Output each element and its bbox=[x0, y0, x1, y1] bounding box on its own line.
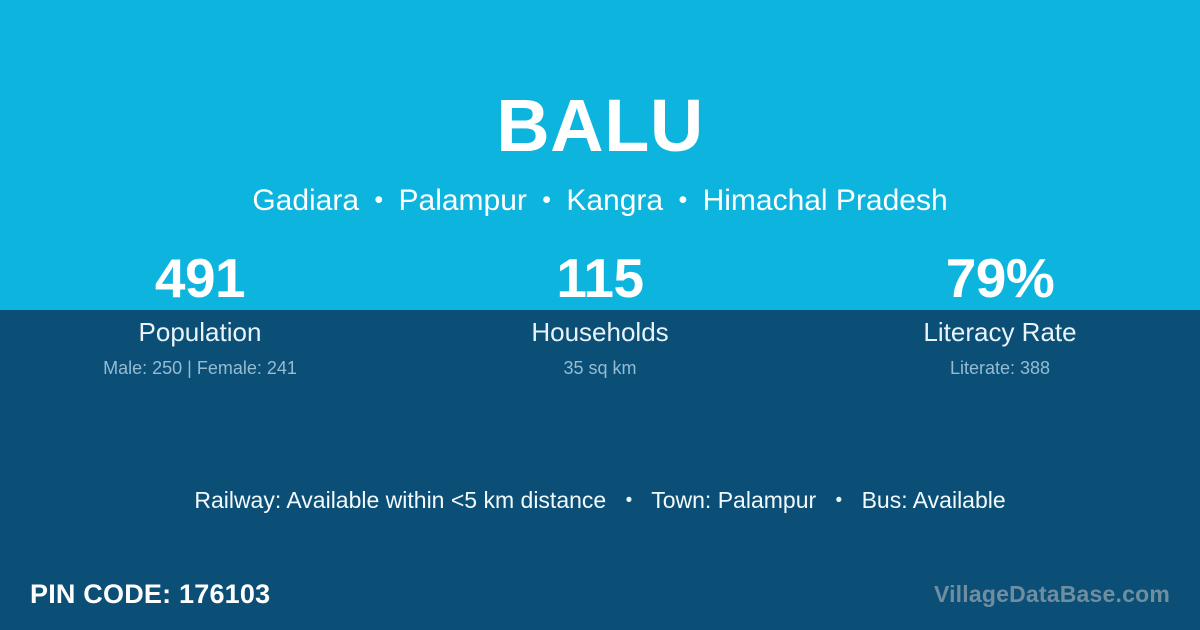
breadcrumb-item-block: Palampur bbox=[399, 184, 527, 217]
breadcrumb-separator-icon: • bbox=[671, 186, 694, 214]
stat-label-households: Households bbox=[400, 317, 800, 347]
stat-sub-households: 35 sq km bbox=[400, 357, 800, 379]
stats-row: 491 Population Male: 250 | Female: 241 1… bbox=[0, 246, 1200, 379]
breadcrumb: Gadiara • Palampur • Kangra • Himachal P… bbox=[0, 180, 1200, 221]
breadcrumb-item-village: Gadiara bbox=[252, 184, 359, 217]
footer-row: PIN CODE: 176103 VillageDataBase.com bbox=[0, 572, 1200, 616]
stat-sub-population: Male: 250 | Female: 241 bbox=[0, 357, 400, 379]
stat-value-households: 115 bbox=[400, 246, 800, 310]
pin-code: PIN CODE: 176103 bbox=[30, 577, 270, 611]
amenity-separator-icon: • bbox=[823, 490, 856, 511]
amenity-bus: Bus: Available bbox=[862, 487, 1006, 513]
breadcrumb-separator-icon: • bbox=[367, 186, 390, 214]
village-info-card: BALU Gadiara • Palampur • Kangra • Himac… bbox=[0, 0, 1200, 630]
site-branding: VillageDataBase.com bbox=[934, 579, 1170, 609]
stat-literacy-rate: 79% Literacy Rate Literate: 388 bbox=[800, 246, 1200, 379]
stat-value-literacy-rate: 79% bbox=[800, 246, 1200, 310]
amenities-line: Railway: Available within <5 km distance… bbox=[0, 485, 1200, 516]
stat-label-literacy-rate: Literacy Rate bbox=[800, 317, 1200, 347]
amenity-separator-icon: • bbox=[613, 490, 646, 511]
breadcrumb-item-district: Kangra bbox=[566, 184, 663, 217]
stat-population: 491 Population Male: 250 | Female: 241 bbox=[0, 246, 400, 379]
stat-sub-literacy-rate: Literate: 388 bbox=[800, 357, 1200, 379]
stat-households: 115 Households 35 sq km bbox=[400, 246, 800, 379]
amenity-town: Town: Palampur bbox=[651, 487, 816, 513]
page-title: BALU bbox=[0, 84, 1200, 168]
stat-value-population: 491 bbox=[0, 246, 400, 310]
stat-label-population: Population bbox=[0, 317, 400, 347]
breadcrumb-item-state: Himachal Pradesh bbox=[703, 184, 948, 217]
breadcrumb-separator-icon: • bbox=[535, 186, 558, 214]
amenity-railway: Railway: Available within <5 km distance bbox=[194, 487, 606, 513]
